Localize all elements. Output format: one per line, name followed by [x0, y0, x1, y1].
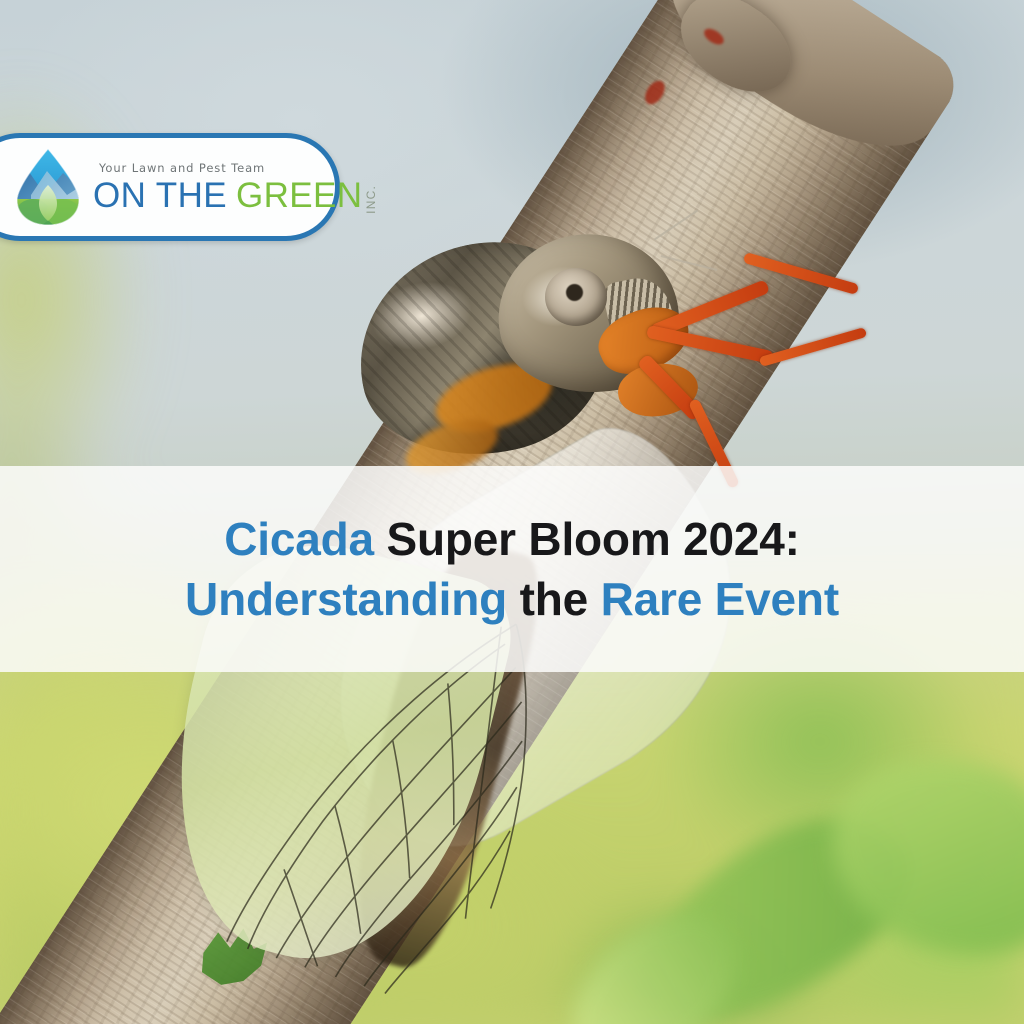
- title-banner: Cicada Super Bloom 2024: Understanding t…: [0, 466, 1024, 672]
- logo-name-secondary: GREEN: [236, 176, 362, 216]
- logo-tagline: Your Lawn and Pest Team: [99, 161, 378, 175]
- cicada-pupil: [566, 284, 583, 301]
- water-droplet-icon: [11, 147, 85, 227]
- hero-graphic: Cicada Super Bloom 2024: Understanding t…: [0, 0, 1024, 1024]
- brand-logo-badge[interactable]: Your Lawn and Pest Team ON THE GREEN INC…: [0, 133, 340, 241]
- logo-wordmark: Your Lawn and Pest Team ON THE GREEN INC…: [93, 161, 378, 216]
- title-space-1: [374, 513, 387, 565]
- title-space-3: [588, 573, 601, 625]
- title-line-1-main: Super Bloom 2024:: [386, 513, 799, 565]
- title-space-2: [507, 573, 520, 625]
- logo-name-primary: ON THE: [93, 176, 227, 216]
- title-line-1: Cicada Super Bloom 2024:: [224, 509, 800, 569]
- logo-suffix: INC.: [364, 185, 378, 214]
- cicada-antenna-2: [661, 255, 718, 271]
- logo-name-row: ON THE GREEN INC.: [93, 176, 378, 216]
- title-line-2: Understanding the Rare Event: [185, 569, 839, 629]
- title-line-2-main: the: [520, 573, 588, 625]
- title-line-2-accent-2: Rare Event: [601, 573, 839, 625]
- title-line-2-accent-1: Understanding: [185, 573, 507, 625]
- title-line-1-accent: Cicada: [224, 513, 374, 565]
